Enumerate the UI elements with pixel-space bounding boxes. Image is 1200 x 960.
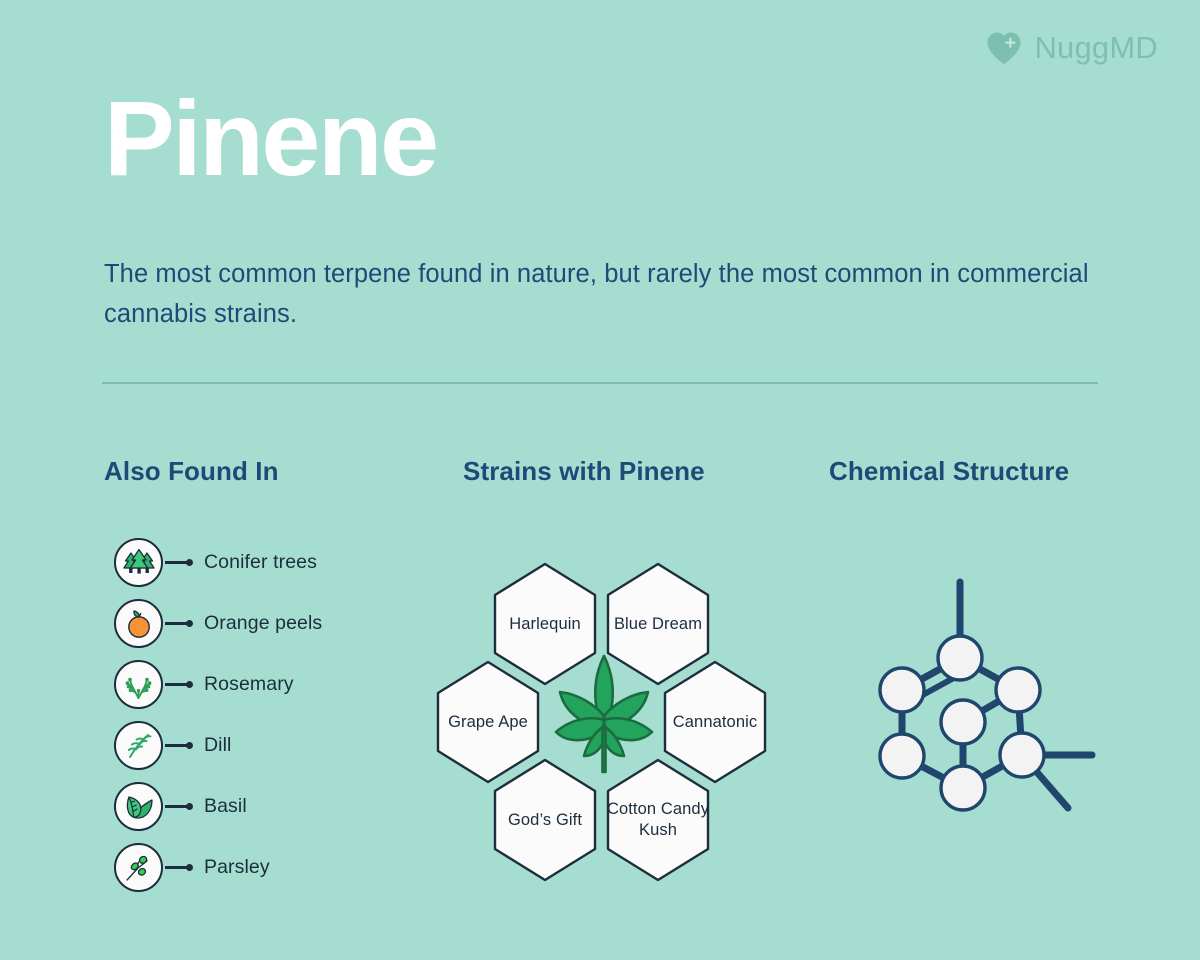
connector	[165, 681, 193, 688]
connector	[165, 620, 193, 627]
basil-leaves-icon	[114, 782, 163, 831]
infographic-page: NuggMD Pinene The most common terpene fo…	[0, 0, 1200, 960]
heading-strains-with-pinene: Strains with Pinene	[463, 456, 705, 487]
section-divider	[102, 382, 1098, 384]
orange-fruit-icon	[114, 599, 163, 648]
list-item: Parsley	[114, 837, 322, 898]
brand-logo: NuggMD	[986, 30, 1158, 66]
list-item-label: Rosemary	[204, 673, 294, 696]
list-item: Conifer trees	[114, 532, 322, 593]
strain-label: Grape Ape	[434, 660, 542, 784]
list-item: Orange peels	[114, 593, 322, 654]
list-item: Dill	[114, 715, 322, 776]
list-item: Basil	[114, 776, 322, 837]
list-item-label: Basil	[204, 795, 247, 818]
connector	[165, 559, 193, 566]
page-subtitle: The most common terpene found in nature,…	[104, 254, 1104, 334]
cannabis-leaf-icon	[542, 654, 666, 780]
list-item: Rosemary	[114, 654, 322, 715]
heading-chemical-structure: Chemical Structure	[829, 456, 1069, 487]
conifer-trees-icon	[114, 538, 163, 587]
also-found-in-list: Conifer trees Orange peels	[114, 532, 322, 898]
strains-hex-cluster: Harlequin Blue Dream Cannatonic Cotton C…	[430, 550, 780, 895]
connector	[165, 864, 193, 871]
connector	[165, 742, 193, 749]
brand-name: NuggMD	[1034, 30, 1158, 66]
rosemary-sprig-icon	[114, 660, 163, 709]
list-item-label: Parsley	[204, 856, 270, 879]
list-item-label: Orange peels	[204, 612, 322, 635]
heart-plus-icon	[986, 31, 1022, 65]
list-item-label: Dill	[204, 734, 231, 757]
strain-hex-grape-ape[interactable]: Grape Ape	[434, 660, 542, 784]
connector	[165, 803, 193, 810]
parsley-leaves-icon	[114, 843, 163, 892]
alpha-pinene-molecule-icon	[860, 570, 1120, 845]
dill-frond-icon	[114, 721, 163, 770]
page-title: Pinene	[104, 86, 437, 192]
list-item-label: Conifer trees	[204, 551, 317, 574]
heading-also-found-in: Also Found In	[104, 456, 279, 487]
